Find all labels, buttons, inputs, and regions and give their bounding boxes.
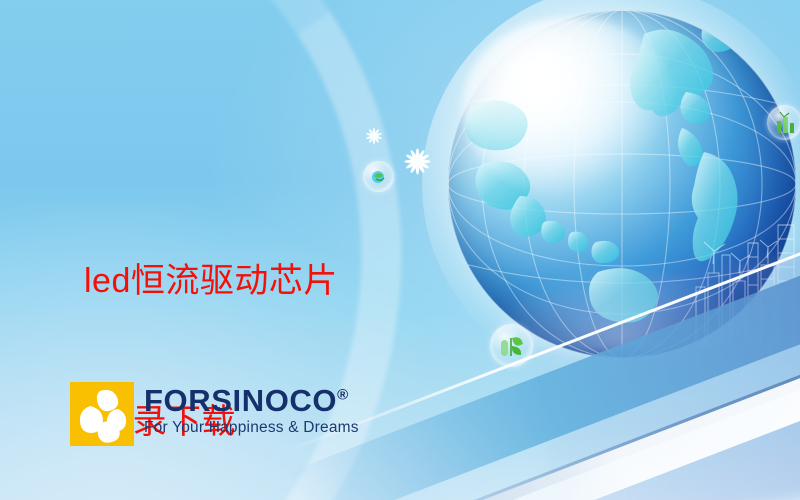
logo-mark (70, 382, 134, 446)
promo-banner: led恒流驱动芯片 目录下载 FORSINOCO® For Your Happi… (0, 0, 800, 500)
bubble-city-motif-icon (767, 105, 800, 140)
headline-line-1: led恒流驱动芯片 (84, 258, 414, 305)
daisy-small-icon (365, 127, 383, 145)
logo-tagline: For Your Happiness & Dreams (144, 419, 359, 437)
page-title: led恒流驱动芯片 目录下载 (84, 164, 414, 500)
logo-text-block: FORSINOCO® For Your Happiness & Dreams (144, 382, 359, 437)
globe-highlight (462, 17, 678, 198)
bubble-leaf-motif-icon (490, 324, 533, 367)
logo-wordmark-text: FORSINOCO (144, 383, 337, 418)
bubble-city (767, 105, 800, 140)
logo-wordmark: FORSINOCO® (144, 385, 359, 416)
city-skyline-icon (690, 195, 800, 345)
four-petal-pinwheel-icon (70, 382, 134, 446)
registered-trademark-symbol: ® (337, 387, 348, 404)
bubble-leaf (490, 324, 533, 367)
brand-logo: FORSINOCO® For Your Happiness & Dreams (70, 382, 359, 446)
